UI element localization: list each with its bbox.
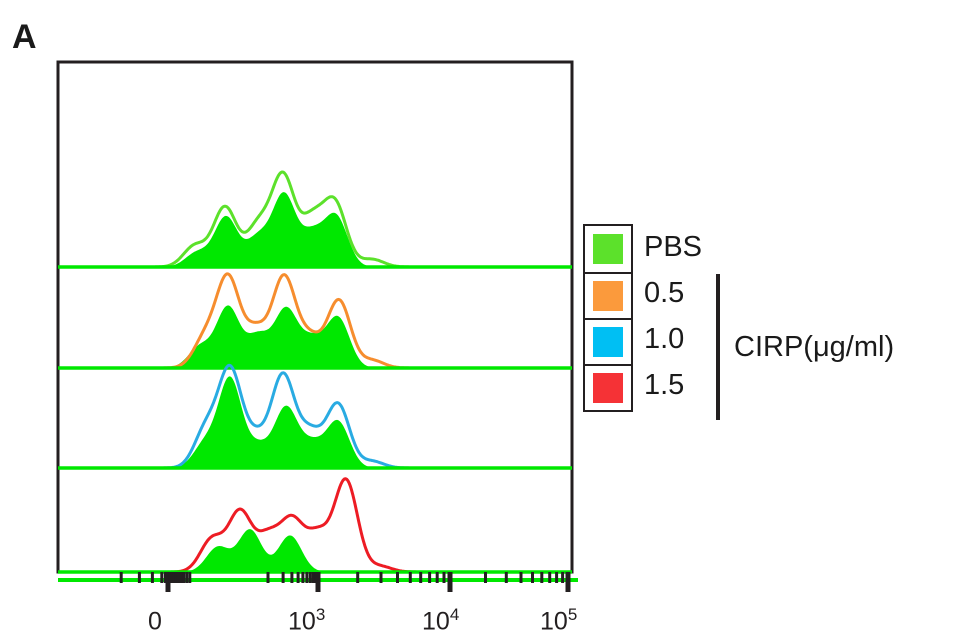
x-axis (58, 572, 578, 592)
axis-tick-label-1e3: 103 (288, 605, 325, 636)
plot-frame (58, 62, 572, 572)
legend: PBS 0.5 1.0 1.5 (583, 224, 702, 412)
legend-swatch-column (583, 224, 633, 412)
legend-label-15: 1.5 (644, 362, 702, 408)
legend-label-05: 0.5 (644, 270, 702, 316)
legend-swatch-cell-pbs (585, 226, 631, 272)
legend-color-swatch-pbs (593, 234, 623, 264)
legend-label-pbs: PBS (644, 224, 702, 270)
axis-tick-label-1e4: 104 (422, 605, 459, 636)
legend-swatch-cell-05 (585, 272, 631, 318)
axis-tick-label-1e5: 105 (540, 605, 577, 636)
legend-swatch-cell-15 (585, 364, 631, 410)
legend-color-swatch-05 (593, 281, 623, 311)
legend-label-column: PBS 0.5 1.0 1.5 (644, 224, 702, 412)
legend-color-swatch-10 (593, 327, 623, 357)
figure-panel-a: A 0 103 104 105 (0, 0, 964, 642)
axis-tick-label-0: 0 (148, 605, 162, 636)
legend-label-10: 1.0 (644, 316, 702, 362)
legend-group-bracket: CIRP(μg/ml) (716, 274, 894, 420)
legend-swatch-cell-10 (585, 318, 631, 364)
legend-group-title: CIRP(μg/ml) (734, 331, 894, 364)
legend-color-swatch-15 (593, 373, 623, 403)
group-bracket-bar (716, 274, 720, 420)
